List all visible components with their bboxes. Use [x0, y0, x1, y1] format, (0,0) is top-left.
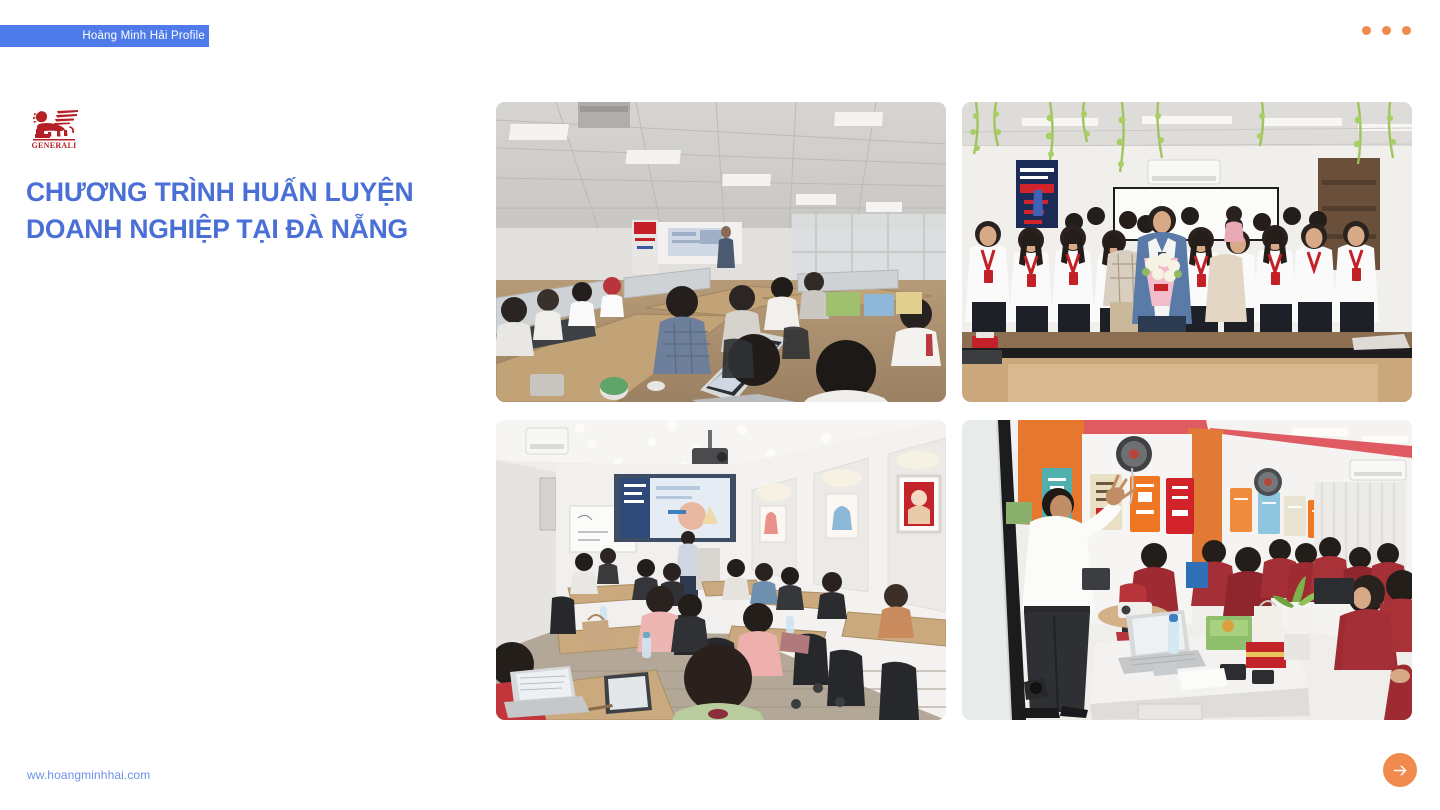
- winged-lion-icon: GENERALI: [26, 106, 82, 150]
- photo-2-image: [962, 102, 1412, 402]
- title-column: GENERALI CHƯƠNG TRÌNH HUẤN LUYỆN DOANH N…: [26, 106, 456, 247]
- decorative-dots-group: [1362, 26, 1411, 35]
- page-title-line-2: DOANH NGHIỆP TẠI ĐÀ NẴNG: [26, 211, 456, 248]
- photo-1-image: [496, 102, 946, 402]
- svg-text:GENERALI: GENERALI: [31, 141, 76, 150]
- dot-2-icon: [1382, 26, 1391, 35]
- photo-open-plan-office-training[interactable]: [496, 102, 946, 402]
- page-title-line-1: CHƯƠNG TRÌNH HUẤN LUYỆN: [26, 174, 456, 211]
- photo-trainer-at-whiteboard[interactable]: [962, 420, 1412, 720]
- next-slide-button[interactable]: [1383, 753, 1417, 787]
- photo-classroom-projector-session[interactable]: [496, 420, 946, 720]
- arrow-right-icon: [1392, 762, 1409, 779]
- generali-logo: GENERALI: [26, 106, 82, 150]
- profile-tag-label: Hoàng Minh Hải Profile: [82, 30, 205, 42]
- photo-team-group-portrait[interactable]: [962, 102, 1412, 402]
- dot-3-icon: [1402, 26, 1411, 35]
- dot-1-icon: [1362, 26, 1371, 35]
- photo-4-image: [962, 420, 1412, 720]
- page-title: CHƯƠNG TRÌNH HUẤN LUYỆN DOANH NGHIỆP TẠI…: [26, 174, 456, 247]
- photo-3-image: [496, 420, 946, 720]
- photo-gallery: [496, 102, 1412, 720]
- profile-header-bar: Hoàng Minh Hải Profile: [0, 25, 209, 47]
- website-url[interactable]: ww.hoangminhhai.com: [27, 768, 150, 782]
